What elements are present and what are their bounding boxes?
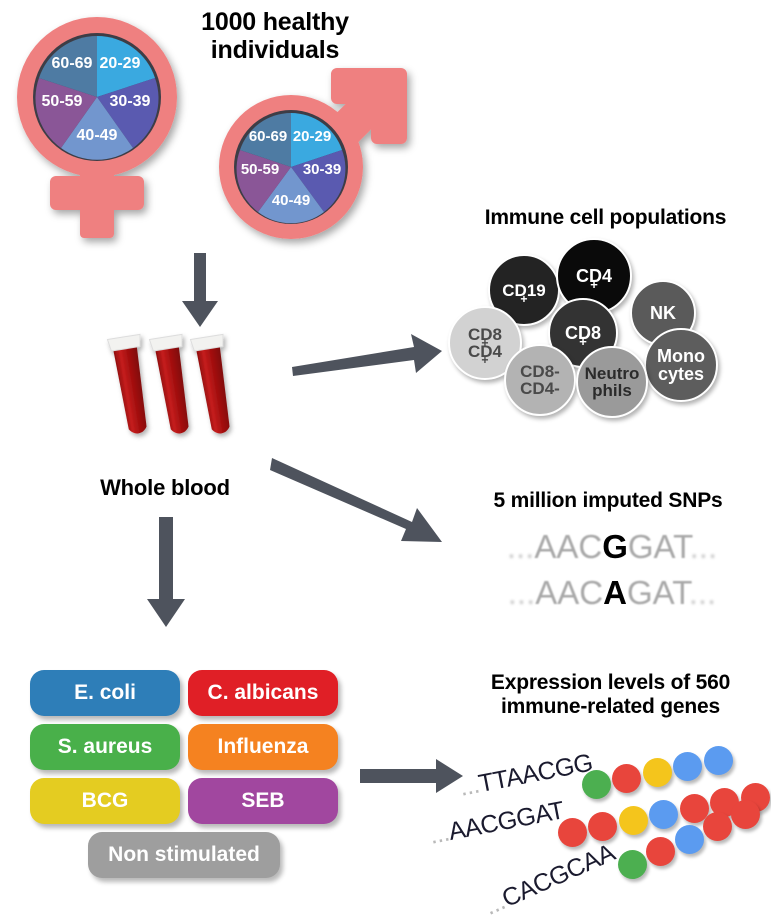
expression-bead (618, 850, 647, 879)
snp-left-ellipsis: ... (508, 574, 536, 611)
immune-cell-cluster: CD19+CD4+NKCD8+CD4+CD8+MonocytesCD8-CD4-… (448, 236, 771, 416)
stimulus-label: SEB (241, 789, 284, 813)
blood-tubes (104, 332, 254, 467)
label-whole-blood: Whole blood (60, 476, 270, 501)
immune-cell-label: NK (650, 304, 676, 322)
page-title-expression: Expression levels of 560 immune-related … (450, 671, 771, 718)
expression-bead (643, 758, 672, 787)
male-age-label-30-39: 30-39 (303, 161, 341, 178)
snp-suffix: GAT (627, 574, 689, 611)
female-age-label-60-69: 60-69 (52, 55, 93, 72)
expression-bead (731, 800, 760, 829)
male-age-label-40-49: 40-49 (272, 192, 310, 209)
stimulus-box-bcg[interactable]: BCG (30, 778, 180, 824)
stimulus-box-e-coli[interactable]: E. coli (30, 670, 180, 716)
female-symbol: 20-29 30-39 40-49 50-59 60-69 (8, 16, 198, 246)
expression-bead (558, 818, 587, 847)
blood-tube (190, 334, 238, 435)
expression-bead (675, 825, 704, 854)
immune-cell-label: CD8-CD4- (520, 363, 560, 397)
snp-right-ellipsis: ... (689, 574, 717, 611)
immune-cell-neutrophils: Neutrophils (576, 346, 648, 418)
stimulus-label: S. aureus (58, 735, 153, 759)
stimulus-label: Influenza (217, 735, 308, 759)
arrow-blood-to-snps (270, 450, 445, 550)
gene-expression-strands: ...TTAACGG...AACGGAT...CACGCAA (450, 730, 771, 910)
male-age-label-50-59: 50-59 (241, 161, 279, 178)
stimulus-box-s-aureus[interactable]: S. aureus (30, 724, 180, 770)
immune-cell-label: CD8+ (565, 324, 601, 342)
expression-bead (588, 812, 617, 841)
expression-strand-sequence: ...TTAACGG (457, 749, 595, 803)
immune-cell-monocytes: Monocytes (644, 328, 718, 402)
snp-prefix: AAC (534, 528, 602, 565)
arrow-blood-to-immune-cells (290, 330, 445, 380)
snp-variant-allele: A (603, 574, 627, 611)
expression-bead (646, 837, 675, 866)
blood-tube (149, 334, 197, 435)
male-symbol: 20-29 30-39 40-49 50-59 60-69 (205, 62, 415, 252)
immune-cell-label: CD4+ (576, 267, 612, 285)
page-title-immune-cells: Immune cell populations (440, 206, 771, 230)
expression-strand-sequence: ...CACGCAA (480, 839, 619, 922)
snp-sequence-block: ...AACGGAT... ...AACAGAT... (462, 528, 762, 618)
page-title-snps: 5 million imputed SNPs (448, 489, 768, 513)
stimulus-label: Non stimulated (108, 843, 260, 867)
female-age-label-40-49: 40-49 (77, 127, 118, 144)
immune-cell-label: CD19+ (502, 282, 545, 299)
snp-sequence-row-1: ...AACGGAT... (462, 528, 762, 566)
arrow-blood-to-stimuli (144, 517, 188, 629)
immune-cell-label: Neutrophils (585, 365, 640, 399)
snp-prefix: AAC (535, 574, 603, 611)
male-age-label-60-69: 60-69 (249, 128, 287, 145)
snp-right-ellipsis: ... (690, 528, 718, 565)
female-age-label-50-59: 50-59 (42, 93, 83, 110)
expression-bead (704, 746, 733, 775)
expression-bead (673, 752, 702, 781)
stimulus-box-c-albicans[interactable]: C. albicans (188, 670, 338, 716)
stimulus-box-non-stimulated[interactable]: Non stimulated (88, 832, 280, 878)
male-age-label-20-29: 20-29 (293, 128, 331, 145)
blood-tube (107, 334, 155, 435)
expression-strand-sequence: ...AACGGAT (427, 796, 566, 850)
snp-left-ellipsis: ... (507, 528, 535, 565)
female-age-label-20-29: 20-29 (100, 55, 141, 72)
stimulus-box-influenza[interactable]: Influenza (188, 724, 338, 770)
stimulus-label: BCG (82, 789, 129, 813)
immune-cell-cd8-cd4: CD8-CD4- (504, 344, 576, 416)
figure-canvas: 1000 healthy individuals (0, 0, 771, 922)
immune-cell-label: CD8+CD4+ (468, 326, 502, 360)
expression-bead (649, 800, 678, 829)
expression-bead (619, 806, 648, 835)
expression-bead (612, 764, 641, 793)
snp-suffix: GAT (628, 528, 690, 565)
snp-variant-allele: G (602, 528, 628, 565)
stimulus-label: C. albicans (208, 681, 319, 705)
arrow-cohort-to-blood (178, 253, 222, 329)
stimulus-label: E. coli (74, 681, 136, 705)
female-age-label-30-39: 30-39 (110, 93, 151, 110)
snp-sequence-row-2: ...AACAGAT... (462, 574, 762, 612)
stimulus-box-seb[interactable]: SEB (188, 778, 338, 824)
expression-bead (703, 812, 732, 841)
expression-bead (582, 770, 611, 799)
immune-cell-label: Monocytes (657, 347, 705, 383)
